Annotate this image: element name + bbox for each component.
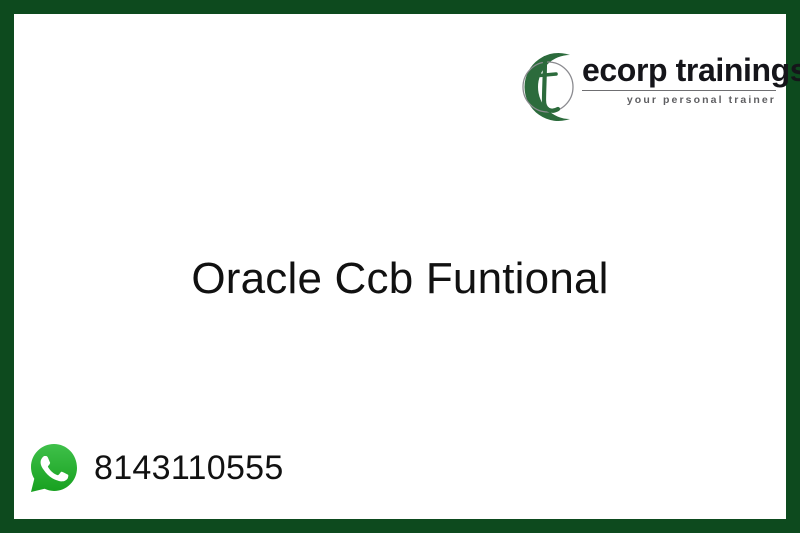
- brand-logo: ecorp trainings your personal trainer: [496, 40, 786, 140]
- logo-text-block: ecorp trainings your personal trainer: [582, 54, 782, 106]
- slide-content-area: ecorp trainings your personal trainer Or…: [14, 14, 786, 519]
- logo-tagline: your personal trainer: [582, 94, 776, 106]
- page-title: Oracle Ccb Funtional: [14, 254, 786, 304]
- whatsapp-icon[interactable]: [28, 442, 80, 494]
- logo-wordmark: ecorp trainings: [582, 54, 782, 88]
- contact-block: 8143110555: [28, 442, 284, 494]
- logo-divider-rule: [582, 90, 776, 91]
- phone-number: 8143110555: [94, 449, 284, 488]
- ecorp-logo-mark-icon: [500, 44, 592, 130]
- slide-canvas: ecorp trainings your personal trainer Or…: [0, 0, 800, 533]
